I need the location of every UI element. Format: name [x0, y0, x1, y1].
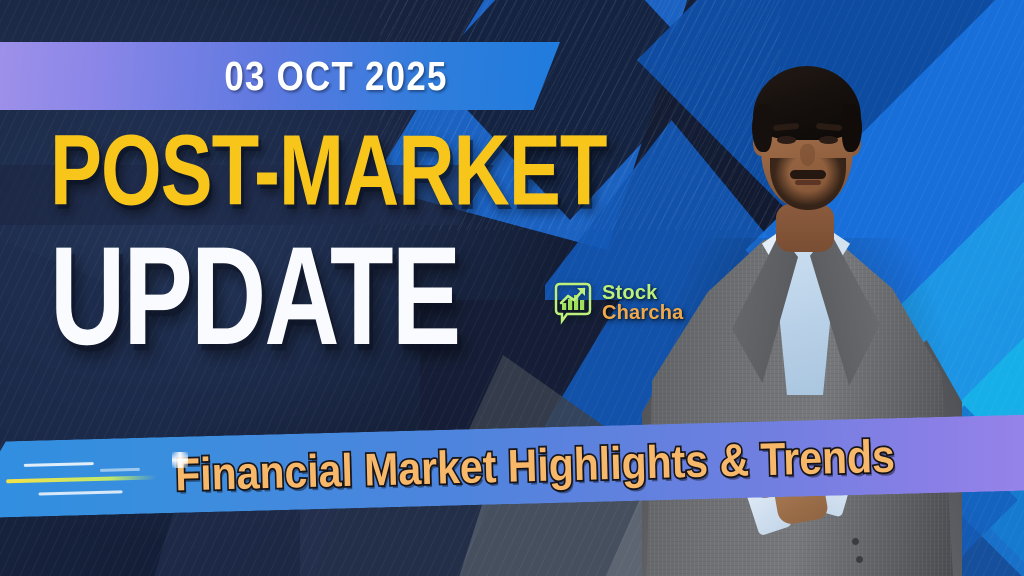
- brand-logo[interactable]: Stock Charcha: [551, 281, 683, 325]
- brand-name: Stock Charcha: [602, 283, 683, 323]
- brand-name-part1: Stock: [602, 283, 683, 303]
- speed-line-1: [24, 462, 94, 467]
- headline-line-1: POST-MARKET: [50, 125, 639, 217]
- presenter-mouth: [795, 180, 821, 185]
- subtitle-text: Financial Market Highlights & Trends: [174, 430, 895, 501]
- headline-line-2: UPDATE: [50, 234, 627, 360]
- presenter-eye-right: [819, 136, 838, 144]
- presenter-nose: [800, 144, 815, 166]
- speed-line-3: [39, 490, 123, 495]
- speed-line-2: [6, 475, 156, 483]
- thumbnail-canvas: 03 OCT 2025 POST-MARKET UPDATE Stock Cha…: [0, 0, 1024, 576]
- presenter-hair-side-left: [752, 104, 772, 152]
- brand-name-part2: Charcha: [602, 303, 683, 323]
- presenter-suit-button-2: [856, 556, 863, 563]
- presenter-neck: [776, 204, 834, 252]
- chart-speech-bubble-icon: [551, 281, 595, 325]
- speed-line-4: [100, 468, 140, 472]
- presenter-hair-side-right: [842, 104, 862, 152]
- date-text: 03 OCT 2025: [225, 53, 448, 100]
- presenter-suit-button-1: [852, 538, 859, 545]
- sparkle-icon: [172, 452, 188, 468]
- presenter-eye-left: [777, 136, 796, 144]
- presenter-moustache: [790, 170, 826, 179]
- date-badge: 03 OCT 2025: [0, 42, 560, 110]
